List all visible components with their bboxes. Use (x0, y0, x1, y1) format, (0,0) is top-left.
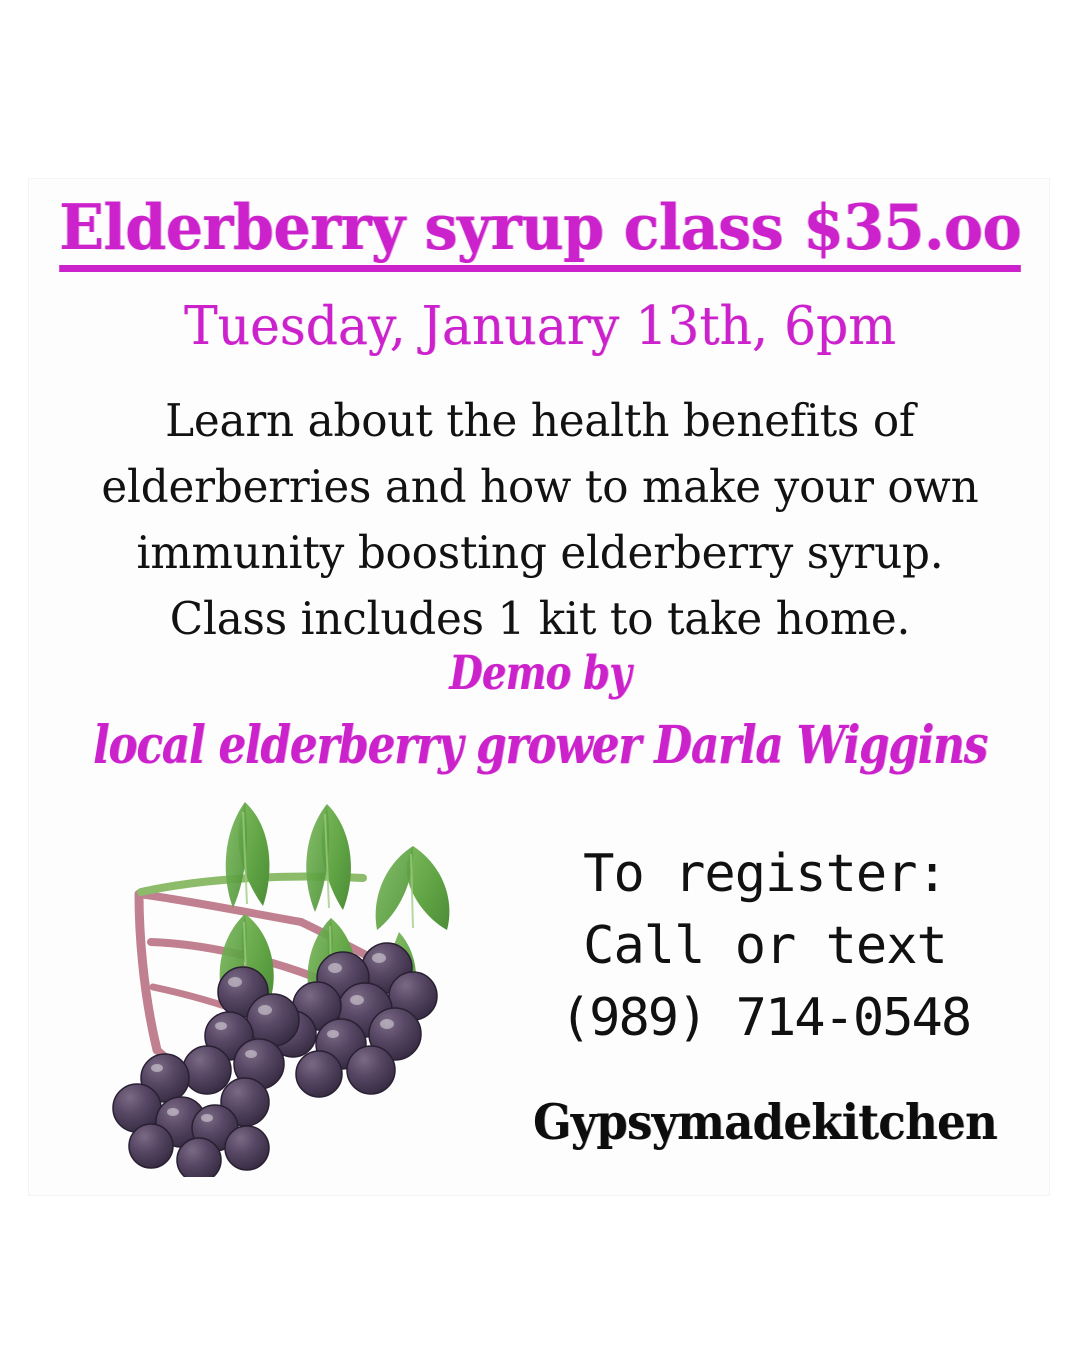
registration-info: To register: Call or text (989) 714-0548 (500, 838, 1030, 1054)
event-datetime: Tuesday, January 13th, 6pm (27, 300, 1053, 353)
description-text: Learn about the health benefits of elder… (30, 388, 1050, 652)
demo-by-label: Demo by (97, 645, 983, 703)
elderberry-icon (95, 782, 495, 1177)
elderberry-class-flyer: Elderberry syrup class $35.oo Tuesday, J… (0, 0, 1080, 1350)
description-line-2: elderberries and how to make your own (45, 454, 1034, 520)
headline-container: Elderberry syrup class $35.oo (0, 196, 1080, 272)
register-heading: To register: (500, 838, 1030, 910)
demo-presenter: local elderberry grower Darla Wiggins (86, 715, 993, 777)
brand-name: Gypsymadekitchen (521, 1098, 1009, 1147)
phone-number[interactable]: (989) 714-0548 (500, 982, 1030, 1054)
description-line-4: Class includes 1 kit to take home. (45, 586, 1034, 652)
description-line-1: Learn about the health benefits of (45, 388, 1034, 454)
description-line-3: immunity boosting elderberry syrup. (45, 520, 1034, 586)
page-title: Elderberry syrup class $35.oo (59, 196, 1021, 272)
elderberry-illustration (95, 782, 495, 1177)
demo-credit: Demo by local elderberry grower Darla Wi… (0, 645, 1080, 777)
contact-method: Call or text (500, 910, 1030, 982)
